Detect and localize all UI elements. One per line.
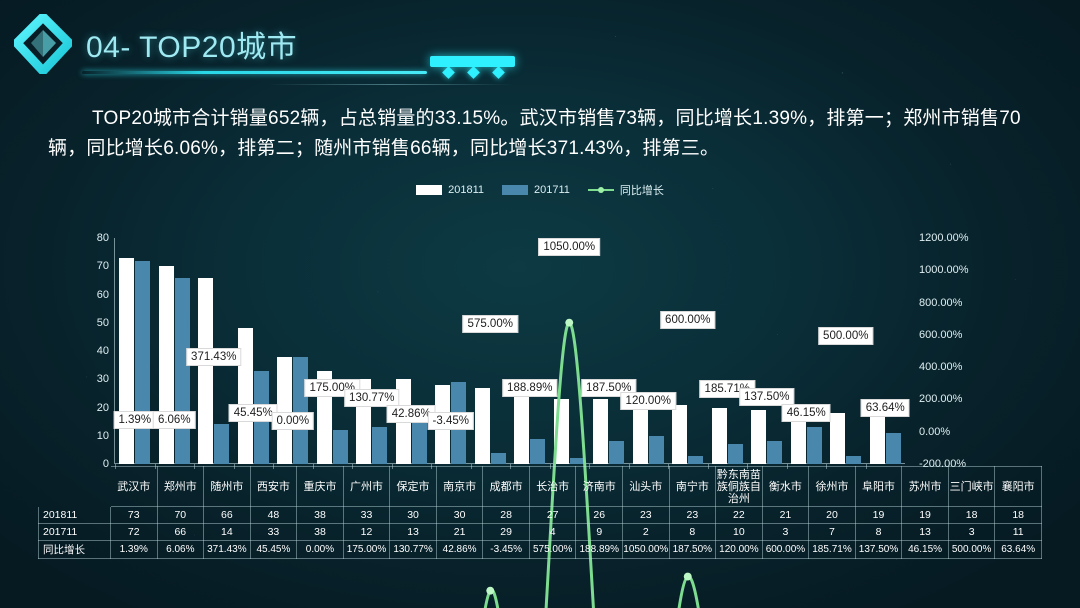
table-cell: 188.89% [576,541,623,559]
table-cell: 8 [855,524,902,541]
bar-201811 [119,258,134,464]
y-axis-right-tick: 0.00% [919,426,950,438]
bar-201711 [688,456,703,464]
bar-201811 [554,399,569,464]
bar-201711 [491,453,506,464]
table-cell: 18 [995,507,1042,524]
table-row-header: 同比增长 [39,541,111,559]
legend-label: 201811 [448,184,484,196]
y-axis-right-tick: 800.00% [919,297,962,309]
y-axis-right-tick: 600.00% [919,329,962,341]
table-cell: 1.39% [111,541,158,559]
bar-201811 [277,357,292,464]
bar-201811 [751,410,766,464]
table-column-header: 苏州市 [902,467,949,507]
growth-data-label: 188.89% [502,379,557,397]
legend-swatch-icon [416,185,442,195]
bar-201711 [293,357,308,464]
table-column-header: 西安市 [250,467,297,507]
legend-item-同比增长: 同比增长 [588,182,664,198]
bar-201711 [767,441,782,464]
bar-pair [392,238,432,464]
bar-201711 [649,436,664,464]
y-axis-right-tick: 200.00% [919,393,962,405]
accent-diamond-2 [467,66,480,79]
accent-diamond-1 [442,66,455,79]
bar-201711 [530,439,545,464]
accent-diamond-3 [492,66,505,79]
bar-201711 [728,444,743,464]
table-cell: 33 [343,507,390,524]
table-cell: 175.00% [343,541,390,559]
bar-pair [550,238,590,464]
y-axis-right: -200.00%0.00%200.00%400.00%600.00%800.00… [905,238,1020,464]
growth-data-label: 63.64% [861,399,910,417]
chart-column [589,238,629,464]
table-cell: 28 [483,507,530,524]
title-thin-rule [268,84,513,85]
y-axis-left-tick: 80 [97,232,109,244]
bar-201711 [570,458,585,464]
chart-column [392,238,432,464]
growth-data-label: 137.50% [739,388,794,406]
bar-201811 [830,413,845,464]
page-header: 04- TOP20城市 [0,0,1080,95]
growth-data-label: 600.00% [660,311,715,329]
bar-201811 [672,405,687,464]
legend-swatch-icon [502,185,528,195]
table-cell: 46.15% [902,541,949,559]
table-column-header: 黔东南苗族侗族自治州 [716,467,763,507]
bar-201811 [159,266,174,464]
plot-area: 1.39%6.06%371.43%45.45%0.00%175.00%130.7… [115,238,905,464]
bar-201811 [633,402,648,464]
table-cell: 33 [250,524,297,541]
y-axis-right-tick: 1000.00% [919,264,969,276]
table-row: 20171172661433381213212949281037813311 [39,524,1042,541]
y-axis-left-tick: 30 [97,373,109,385]
table-cell: 0.00% [297,541,344,559]
table-row: 2018117370664838333030282726232322212019… [39,507,1042,524]
y-axis-left-tick: 40 [97,345,109,357]
y-axis-left-tick: 70 [97,260,109,272]
chart-column [668,238,708,464]
table-column-header: 三门峡市 [948,467,995,507]
table-column-header: 南宁市 [669,467,716,507]
table-cell: 42.86% [436,541,483,559]
table-cell: 19 [855,507,902,524]
bar-201811 [870,413,885,464]
bar-pair [510,238,550,464]
chart-column [747,238,787,464]
chart-column [313,238,353,464]
page-title: 04- TOP20城市 [86,22,297,66]
table-cell: 18 [948,507,995,524]
legend-item-201711: 201711 [502,184,570,196]
y-axis-right-tick: 1200.00% [919,232,969,244]
legend-item-201811: 201811 [416,184,484,196]
bar-201711 [886,433,901,464]
chart-column [510,238,550,464]
bar-201711 [135,261,150,464]
legend-label: 同比增长 [620,182,664,198]
table-cell: 72 [111,524,158,541]
table-cell: 120.00% [716,541,763,559]
table-cell: 12 [343,524,390,541]
table-cell: 13 [390,524,437,541]
growth-data-label: 46.15% [782,404,831,422]
growth-data-label: 45.45% [229,404,278,422]
table-row-header: 201811 [39,507,111,524]
table-cell: 3 [948,524,995,541]
table-cell: 30 [390,507,437,524]
table-column-header: 汕头市 [623,467,670,507]
table-cell: 4 [529,524,576,541]
bar-pair [115,238,155,464]
table-column-header: 成都市 [483,467,530,507]
chart-column [787,238,827,464]
growth-data-label: 575.00% [463,315,518,333]
table-column-header: 广州市 [343,467,390,507]
bar-pair [273,238,313,464]
growth-data-label: 120.00% [621,392,676,410]
chart-column [115,238,155,464]
table-column-header: 重庆市 [297,467,344,507]
legend-label: 201711 [534,184,570,196]
table-column-header: 衡水市 [762,467,809,507]
table-head: 武汉市郑州市随州市西安市重庆市广州市保定市南京市成都市长治市济南市汕头市南宁市黔… [39,467,1042,507]
table-cell: 187.50% [669,541,716,559]
growth-data-label: 0.00% [271,412,314,430]
bar-pair [708,238,748,464]
bar-201811 [593,399,608,464]
chart-column [826,238,866,464]
y-axis-left-tick: 60 [97,289,109,301]
chart-column [708,238,748,464]
legend-swatch-icon [588,189,614,191]
table-cell: 19 [902,507,949,524]
y-axis-left-tick: 10 [97,430,109,442]
bar-201711 [214,424,229,464]
y-axis-left-tick: 50 [97,317,109,329]
diamond-logo-icon [14,14,72,74]
table-cell: 9 [576,524,623,541]
growth-data-label: -3.45% [428,412,474,430]
growth-line-marker [684,573,692,581]
bar-pair [826,238,866,464]
bar-pair [866,238,906,464]
table-header-row: 武汉市郑州市随州市西安市重庆市广州市保定市南京市成都市长治市济南市汕头市南宁市黔… [39,467,1042,507]
table-cell: 500.00% [948,541,995,559]
table-cell: 185.71% [809,541,856,559]
table-cell: 29 [483,524,530,541]
growth-line-marker [486,587,494,595]
table-cell: 22 [716,507,763,524]
table-cell: 38 [297,524,344,541]
growth-data-label: 6.06% [153,411,196,429]
table-cell: 3 [762,524,809,541]
data-table: 武汉市郑州市随州市西安市重庆市广州市保定市南京市成都市长治市济南市汕头市南宁市黔… [38,466,1042,559]
table-cell: 30 [436,507,483,524]
table-column-header: 郑州市 [157,467,204,507]
table-cell: 7 [809,524,856,541]
bar-201711 [175,278,190,464]
bar-201811 [475,388,490,464]
growth-data-label: 1.39% [113,411,156,429]
bar-201711 [807,427,822,464]
table-column-header: 襄阳市 [995,467,1042,507]
table-column-header: 保定市 [390,467,437,507]
table-cell: 14 [204,524,251,541]
table-cell: 2 [623,524,670,541]
chart-column [629,238,669,464]
bar-201711 [609,441,624,464]
bar-pair [352,238,392,464]
table-column-header: 济南市 [576,467,623,507]
bar-201711 [372,427,387,464]
table-column-header: 南京市 [436,467,483,507]
bar-pair [629,238,669,464]
table-cell: 38 [297,507,344,524]
table-cell: 8 [669,524,716,541]
table-cell: 66 [157,524,204,541]
chart-column [866,238,906,464]
table-column-header: 长治市 [529,467,576,507]
table-cell: 371.43% [204,541,251,559]
bar-201811 [514,391,529,464]
table-row: 同比增长1.39%6.06%371.43%45.45%0.00%175.00%1… [39,541,1042,559]
table-column-header: 随州市 [204,467,251,507]
table-cell: 45.45% [250,541,297,559]
bar-pair [471,238,511,464]
table-cell: 1050.00% [623,541,670,559]
table-cell: 21 [762,507,809,524]
table-column-header: 武汉市 [111,467,158,507]
chart-column [550,238,590,464]
table-cell: 66 [204,507,251,524]
table-body: 2018117370664838333030282726232322212019… [39,507,1042,559]
bar-201811 [198,278,213,464]
table-cell: 137.50% [855,541,902,559]
table-cell: 63.64% [995,541,1042,559]
chart-column [273,238,313,464]
chart-column [471,238,511,464]
table-cell: 13 [902,524,949,541]
y-axis-left: 01020304050607080 [60,238,115,464]
bar-pair [313,238,353,464]
chart-column [352,238,392,464]
chart-legend: 201811201711同比增长 [0,182,1080,198]
table-cell: 48 [250,507,297,524]
bar-pair [747,238,787,464]
table-cell: 70 [157,507,204,524]
table-cell: 600.00% [762,541,809,559]
table-cell: 20 [809,507,856,524]
table-cell: 575.00% [529,541,576,559]
table-cell: 27 [529,507,576,524]
table-cell: 11 [995,524,1042,541]
table-cell: 130.77% [390,541,437,559]
chart-container: 01020304050607080 -200.00%0.00%200.00%40… [60,228,1020,476]
growth-data-label: 500.00% [818,327,873,345]
table-cell: 73 [111,507,158,524]
title-underline [82,71,427,74]
bar-201711 [333,430,348,464]
y-axis-right-tick: 400.00% [919,361,962,373]
table-corner-cell [39,467,111,507]
growth-data-label: 1050.00% [538,238,600,256]
bar-pair [668,238,708,464]
growth-data-label: 371.43% [186,348,241,366]
bar-201811 [712,408,727,465]
table-row-header: 201711 [39,524,111,541]
table-cell: 23 [669,507,716,524]
bar-pair [589,238,629,464]
table-cell: 26 [576,507,623,524]
table-cell: -3.45% [483,541,530,559]
bar-201711 [846,456,861,464]
table-cell: 21 [436,524,483,541]
table-cell: 10 [716,524,763,541]
summary-paragraph: TOP20城市合计销量652辆，占总销量的33.15%。武汉市销售73辆，同比增… [48,104,1038,164]
y-axis-left-tick: 20 [97,402,109,414]
table-column-header: 徐州市 [809,467,856,507]
bar-pair [787,238,827,464]
table-cell: 6.06% [157,541,204,559]
table-column-header: 阜阳市 [855,467,902,507]
table-cell: 23 [623,507,670,524]
